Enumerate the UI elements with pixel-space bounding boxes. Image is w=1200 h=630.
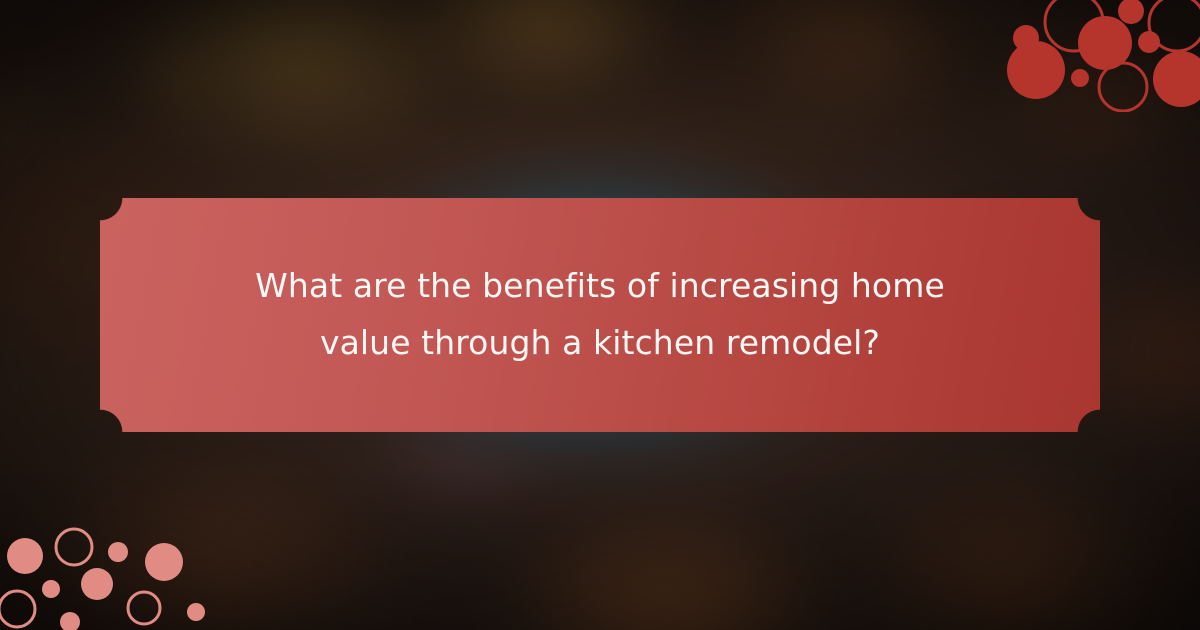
quote-card: What are the benefits of increasing home… [100, 198, 1100, 432]
quote-text: What are the benefits of increasing home… [100, 258, 1100, 372]
social-quote-card-canvas: What are the benefits of increasing home… [0, 0, 1200, 630]
